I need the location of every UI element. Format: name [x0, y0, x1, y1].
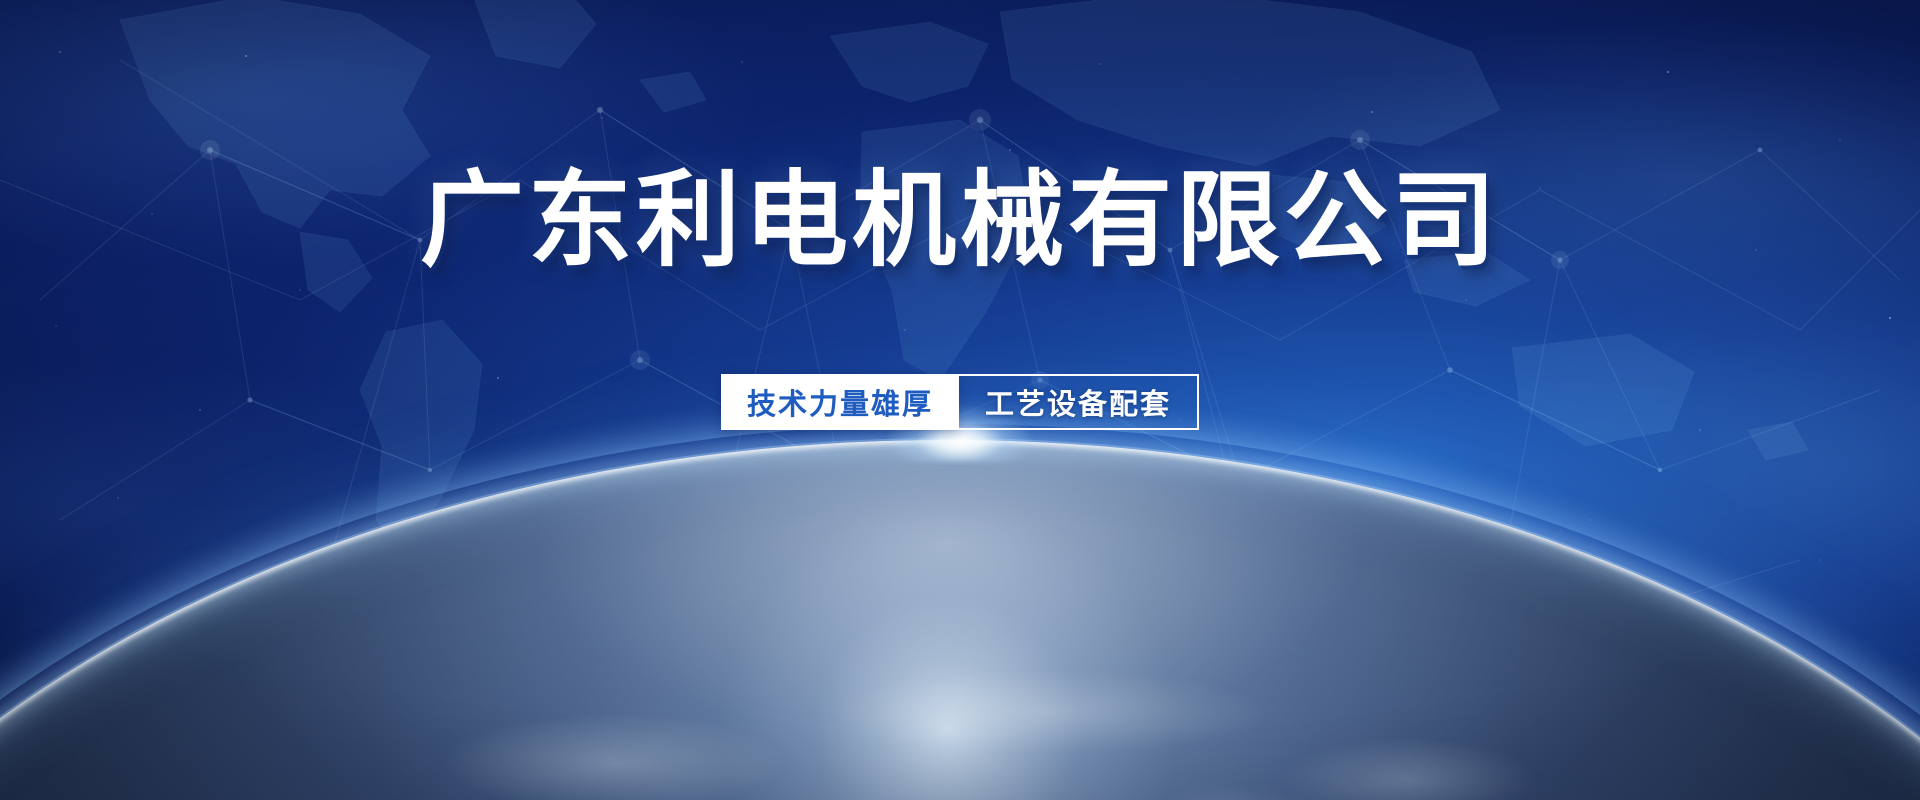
company-title: 广东利电机械有限公司	[0, 168, 1920, 274]
tagline-item-1[interactable]: 技术力量雄厚	[721, 374, 959, 430]
tagline-item-2[interactable]: 工艺设备配套	[959, 374, 1199, 430]
tagline-group: 技术力量雄厚 工艺设备配套	[0, 374, 1920, 430]
earth-terminator-shading	[0, 440, 1920, 800]
earth-globe	[0, 440, 1920, 800]
hero-banner: 广东利电机械有限公司 技术力量雄厚 工艺设备配套	[0, 0, 1920, 800]
